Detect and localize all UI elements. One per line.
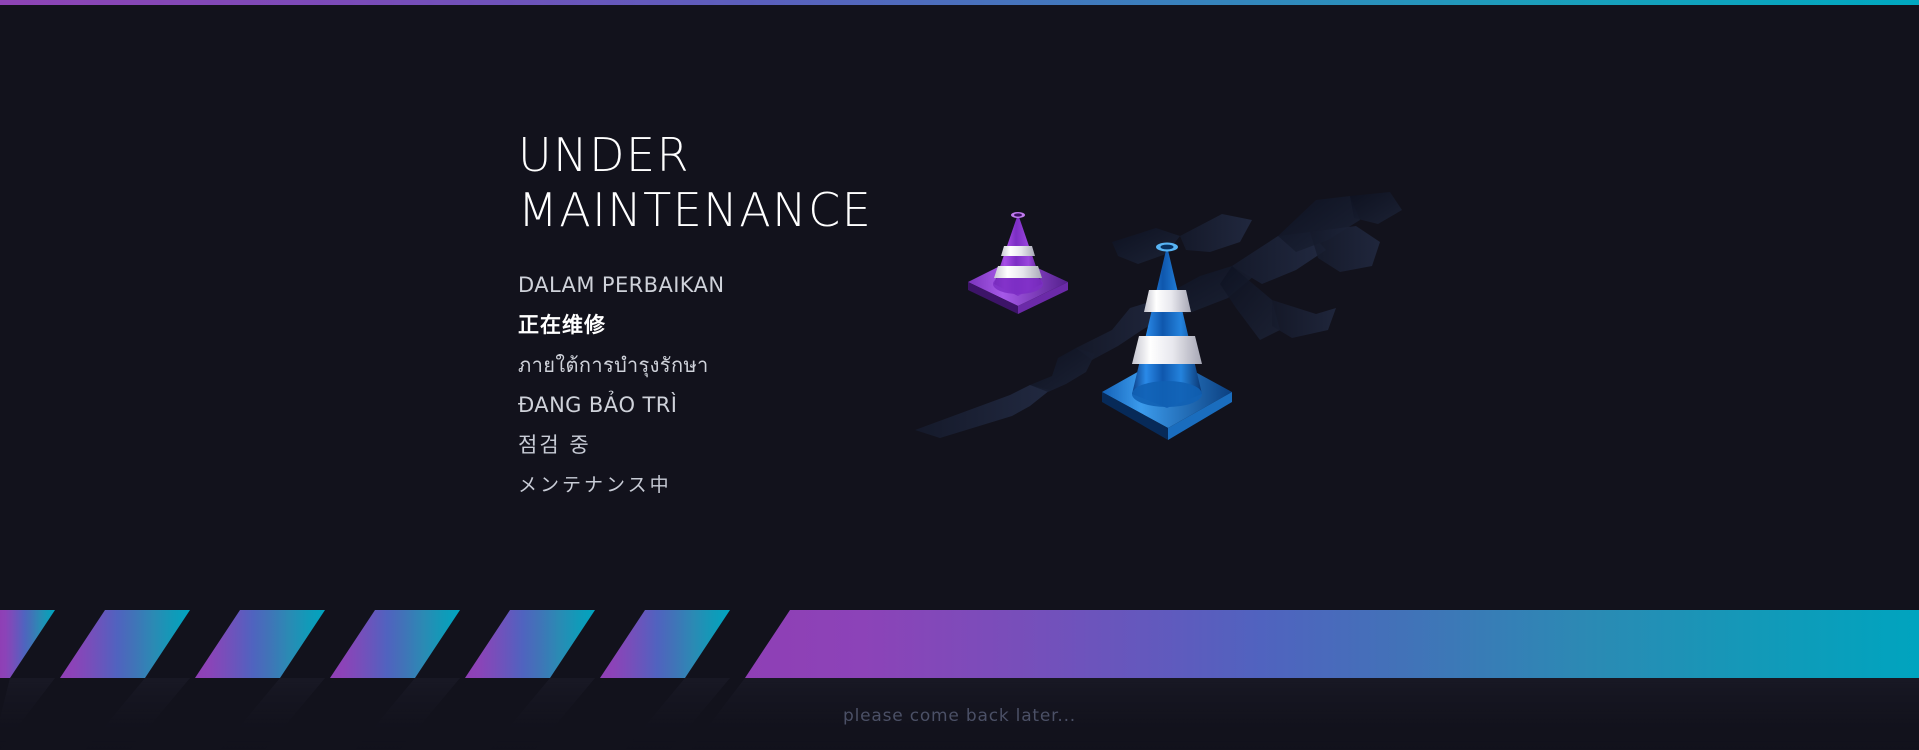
traffic-cone-purple-icon [968,212,1068,314]
top-gradient-rule [0,0,1919,5]
maintenance-illustration [880,180,1480,510]
page-title-line-1: UNDER [518,128,1218,183]
caution-band [0,610,1919,678]
footer-note: please come back later... [0,706,1919,726]
maintenance-page: UNDER MAINTENANCE DALAM PERBAIKAN 正在维修 ภ… [0,0,1919,750]
